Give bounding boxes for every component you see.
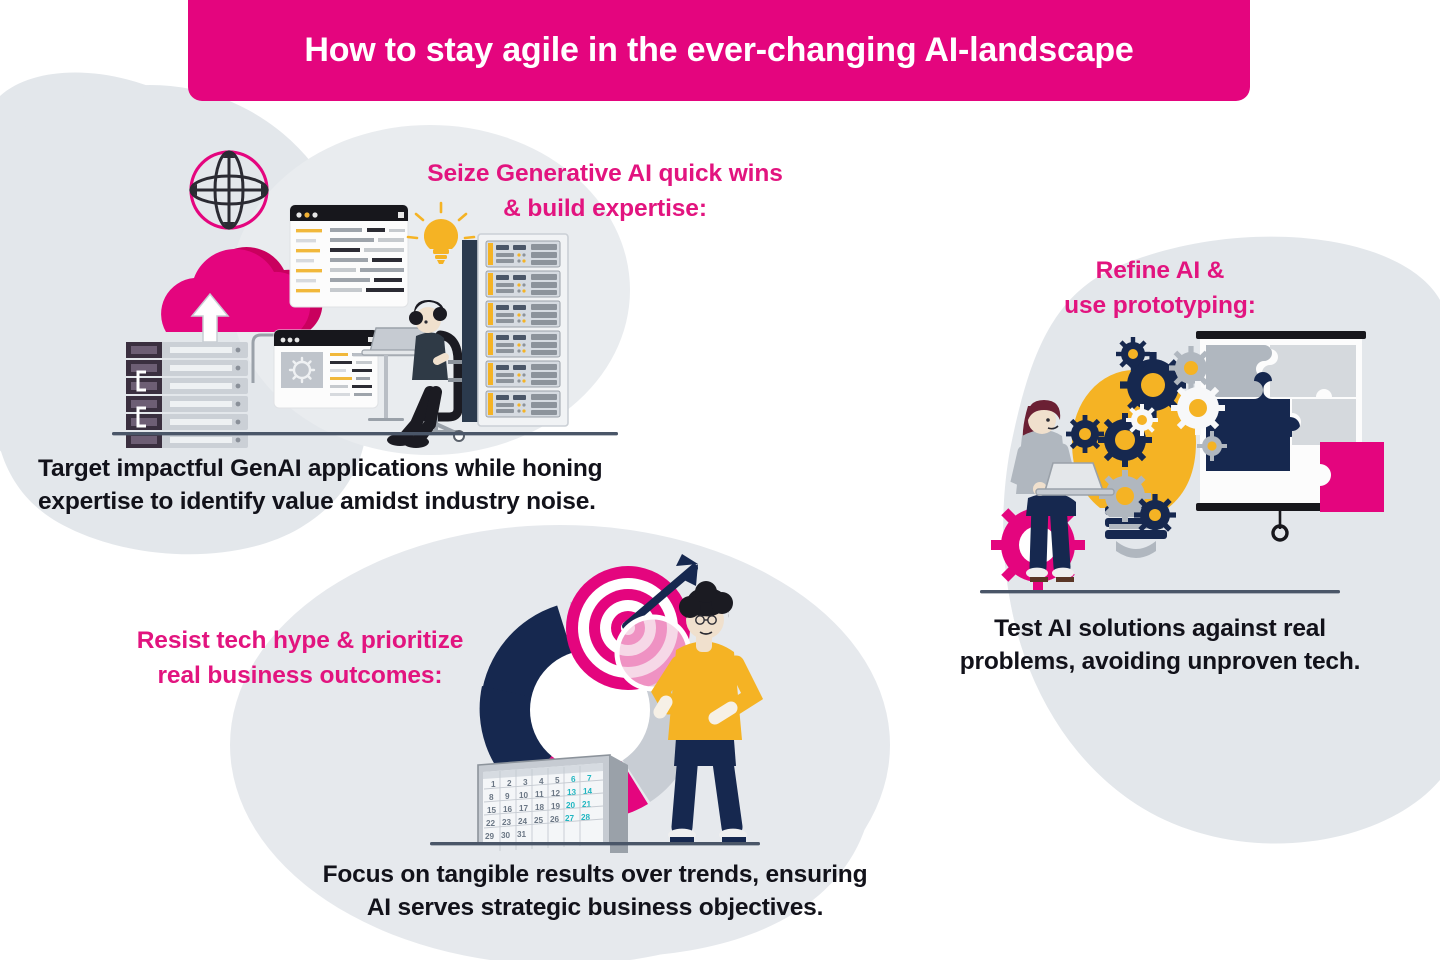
svg-text:29: 29 [485,832,495,841]
gear-navy-small-top [1116,337,1150,371]
heading-line-2: & build expertise: [400,192,810,227]
body-line-1: Target impactful GenAI applications whil… [38,452,718,485]
section-heading-resist: Resist tech hype & prioritize real busin… [100,624,500,694]
gear-gray-top-right [1169,346,1213,390]
presentation-board-icon [1196,331,1384,540]
svg-text:1: 1 [491,780,496,789]
heading-line-1: Seize Generative AI quick wins [400,157,810,192]
illustration-resist: 123 45 67 8910 1112 1314 151617 [430,554,760,853]
gear-navy-small-left [1066,415,1104,453]
server-tower-icon [462,234,568,426]
ground-line-resist [430,842,760,845]
puzzle-piece-gray-small [1292,399,1356,445]
browser-window-secondary-icon [274,330,378,408]
header-title-bar: How to stay agile in the ever-changing A… [188,0,1250,101]
svg-text:22: 22 [486,819,496,828]
ground-line-refine [980,590,1340,593]
heading-line-2: use prototyping: [1005,289,1315,324]
gear-navy-bottom-right [1134,494,1176,536]
svg-text:8: 8 [489,793,494,802]
gear-white-right [1171,381,1225,435]
section-heading-refine: Refine AI & use prototyping: [1005,254,1315,324]
gear-white-small-mid [1126,404,1158,436]
section-heading-seize: Seize Generative AI quick wins & build e… [400,157,810,227]
infographic-canvas: 123 45 67 8910 1112 1314 151617 [0,0,1440,960]
svg-text:31: 31 [517,830,527,839]
svg-text:15: 15 [487,806,497,815]
body-line-1: Test AI solutions against real [910,612,1410,645]
section-body-refine: Test AI solutions against real problems,… [910,612,1410,678]
section-body-seize: Target impactful GenAI applications whil… [38,452,718,518]
person-at-laptop-icon [387,300,464,448]
heading-line-1: Resist tech hype & prioritize [100,624,500,659]
calendar-icon: 123 45 67 8910 1112 1314 151617 [478,755,628,853]
ground-line-seize [112,432,618,435]
section-body-resist: Focus on tangible results over trends, e… [270,858,920,924]
svg-text:7: 7 [587,774,592,783]
body-line-2: problems, avoiding unproven tech. [910,645,1410,678]
illustration-refine [980,331,1384,593]
globe-axis-icon [189,150,269,230]
body-line-2: expertise to identify value amidst indus… [38,485,718,518]
browser-window-icon [290,205,408,307]
heading-line-1: Refine AI & [1005,254,1315,289]
svg-text:30: 30 [501,831,511,840]
page-title: How to stay agile in the ever-changing A… [304,31,1133,70]
body-line-2: AI serves strategic business objectives. [270,891,920,924]
heading-line-2: real business outcomes: [100,659,500,694]
body-line-1: Focus on tangible results over trends, e… [270,858,920,891]
lightbulb-gears-icon [1066,337,1227,558]
